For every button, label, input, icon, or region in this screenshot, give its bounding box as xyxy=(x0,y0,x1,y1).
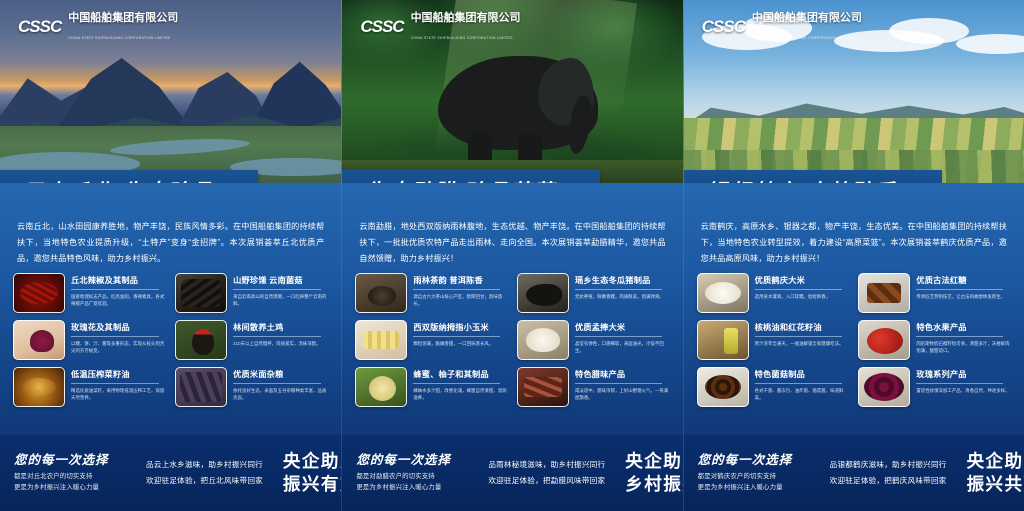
divider xyxy=(755,383,842,384)
product-card[interactable]: 丘北辣椒及其制品 国家地理标志产品，红亮油润，香辣素具，各式辣椒产品广受欢迎。 xyxy=(13,273,166,313)
chili-thumb xyxy=(13,273,65,313)
divider xyxy=(233,336,321,337)
product-desc: 以糖、饼、汁、酱等多重形态，实现从枝头到舌尖的芬芳蜕变。 xyxy=(71,340,166,354)
panel-description: 云南鹤庆，高原水乡、银器之都，物产丰饶，生态优美。在中国船舶集团的持续帮扶下，当… xyxy=(684,213,1024,266)
product-card[interactable]: 优质孟捧大米 晶莹有弹性，口感细软，表面油光，冷饭不回生。 xyxy=(517,320,670,360)
divider xyxy=(916,289,1003,290)
product-grid: 丘北辣椒及其制品 国家地理标志产品，红亮油润，香辣素具，各式辣椒产品广受欢迎。 … xyxy=(0,273,341,407)
product-name: 瑶乡生态冬瓜猪制品 xyxy=(575,276,670,286)
product-name: 特色菌菇制品 xyxy=(755,370,850,380)
product-name: 核桃油和红花籽油 xyxy=(755,323,850,333)
product-name: 优质鹤庆大米 xyxy=(755,276,850,286)
footer-headline-block: 央企助力 振兴有方 xyxy=(283,450,341,496)
product-name: 特色水果产品 xyxy=(916,323,1011,333)
winter-melon-pig-thumb xyxy=(517,273,569,313)
fruit-thumb xyxy=(858,320,910,360)
fungus-thumb xyxy=(697,367,749,407)
footer-invite-block: 品雨林秘境滋味，助乡村振兴同行 欢迎驻足体验，把勐腊风味带回家 xyxy=(488,457,605,489)
footer-slogan-block: 您的每一次选择 都是对勐腊农户的切实支持 更是为乡村振兴注入暖心力量 xyxy=(356,453,468,493)
grain-thumb xyxy=(175,367,227,407)
footer-invite-block: 品云上水乡滋味，助乡村振兴同行 欢迎驻足体验，把丘北风味带回家 xyxy=(146,457,263,489)
product-desc: 各式干菌、酱冻包、油炸菌、菌菇酱，味道鲜美。 xyxy=(755,387,850,401)
product-desc: 源自古六大茶山核心产区，醇厚回甘，韵味悠长。 xyxy=(413,293,508,307)
product-card[interactable]: 特色菌菇制品 各式干菌、酱冻包、油炸菌、菌菇酱，味道鲜美。 xyxy=(697,367,850,407)
divider xyxy=(71,289,159,290)
footer-headline-block: 央企助力 乡村振兴 xyxy=(625,450,682,496)
product-card[interactable]: 优质米面杂粮 依托良好生态，米面及五谷杂粮种类丰富，品质优良。 xyxy=(175,367,328,407)
cssc-logo: CSSC 中国船舶集团有限公司 CHINA STATE SHIPBUILDING… xyxy=(360,8,520,44)
panel-qiubei: CSSC 中国船舶集团有限公司 CHINA STATE SHIPBUILDING… xyxy=(0,0,341,511)
heqing-rice-thumb xyxy=(697,273,749,313)
footer-headline-1: 央企助力 xyxy=(283,450,341,473)
product-desc: 置适性玫瑰深加工产品，清香自然，神述多样。 xyxy=(916,387,1011,394)
product-name: 蜂蜜、柚子和其制品 xyxy=(413,370,508,380)
free-range-chicken-thumb xyxy=(175,320,227,360)
panel-description: 云南勐腊，地处西双版纳雨林腹地，生态优越、物产丰饶。在中国船舶集团的持续帮扶下，… xyxy=(342,213,682,266)
rapeseed-oil-thumb xyxy=(13,367,65,407)
footer-slogan-block: 您的每一次选择 都是对丘北农户的切实支持 更是为乡村振兴注入暖心力量 xyxy=(14,453,126,493)
footer-headline-2: 振兴共赢 xyxy=(967,473,1024,496)
cssc-wordmark-icon: CSSC xyxy=(702,18,745,35)
cured-meat-thumb xyxy=(517,367,569,407)
product-card[interactable]: 蜂蜜、柚子和其制品 蜂柚水多汁甜，改善化涌，蜂蜜自然清甜，温润滋养。 xyxy=(355,367,508,407)
product-desc: 蜂柚水多汁甜，改善化涌，蜂蜜自然清甜，温润滋养。 xyxy=(413,387,508,401)
brand-name-en: CHINA STATE SHIPBUILDING CORPORATION LIM… xyxy=(411,36,513,40)
product-name: 优质米面杂粮 xyxy=(233,370,328,380)
brand-name-en: CHINA STATE SHIPBUILDING CORPORATION LIM… xyxy=(752,36,854,40)
product-card[interactable]: 瑶乡生态冬瓜猪制品 无抗养殖，鲜嫩香糯，肉质鲜美，饱满弹滑。 xyxy=(517,273,670,313)
product-card[interactable]: 低温压榨菜籽油 精选优质油菜籽，采用物理低温压榨工艺，保留天然营养。 xyxy=(13,367,166,407)
product-card[interactable]: 优质鹤庆大米 选用泉水灌溉，入口软糯，粒粒鲜香。 xyxy=(697,273,850,313)
divider xyxy=(233,289,321,290)
footer-invite-line-1: 品雨林秘境滋味，助乡村振兴同行 xyxy=(488,457,605,473)
rose-series-thumb xyxy=(858,367,910,407)
cssc-wordmark-icon: CSSC xyxy=(360,18,403,35)
divider xyxy=(233,383,321,384)
product-card[interactable]: 山野珍馐 云南菌菇 来自云南高山的自然馈赠，一口吃掉整个云南的鲜。 xyxy=(175,273,328,313)
footer-headline-block: 央企助力 振兴共赢 xyxy=(967,450,1024,496)
baby-corn-thumb xyxy=(355,320,407,360)
footer-invite-line-2: 欢迎驻足体验，把鹤庆风味带回家 xyxy=(830,473,947,489)
brand-name-cn: 中国船舶集团有限公司 xyxy=(411,12,521,24)
footer-subline-2: 更是为乡村振兴注入暖心力量 xyxy=(14,483,126,493)
title-ribbon: 银都鹤庆·农韵醇香 xyxy=(684,170,942,183)
product-card[interactable]: 特色水果产品 冈尼斯牧奶石榴籽粒可食，清甜多汁，沃柑鲜肉饱满，酸甜适口。 xyxy=(858,320,1011,360)
mushroom-thumb xyxy=(175,273,227,313)
product-card[interactable]: 核桃油和红花籽油 原汁浓萃全通天，一瓶油解锁全家健康吃法。 xyxy=(697,320,850,360)
cssc-wordmark-icon: CSSC xyxy=(18,18,61,35)
product-grid: 优质鹤庆大米 选用泉水灌溉，入口软糯，粒粒鲜香。 优质古法红糖 传承匠艺熬制技艺… xyxy=(684,273,1024,407)
title-ribbon: 生态勐腊·珍品荟萃 xyxy=(342,170,600,183)
footer-subline-1: 都是对丘北农户的切实支持 xyxy=(14,472,126,482)
cloud xyxy=(889,18,969,44)
footer-invite-line-2: 欢迎驻足体验，把勐腊风味带回家 xyxy=(488,473,605,489)
divider xyxy=(916,383,1003,384)
product-card[interactable]: 玫瑰系列产品 置适性玫瑰深加工产品，清香自然，神述多样。 xyxy=(858,367,1011,407)
divider xyxy=(71,336,159,337)
panel-title: 银都鹤庆·农韵醇香 xyxy=(684,176,897,183)
divider xyxy=(413,289,500,290)
walnut-oil-thumb xyxy=(697,320,749,360)
divider xyxy=(916,336,1003,337)
panel-title: 云上丘北·生态珍品 xyxy=(0,176,213,183)
footer-slogan-block: 您的每一次选择 都是对鹤庆农户的切实支持 更是为乡村振兴注入暖心力量 xyxy=(698,453,810,493)
rose-thumb xyxy=(13,320,65,360)
footer-headline-2: 乡村振兴 xyxy=(625,473,682,496)
product-name: 丘北辣椒及其制品 xyxy=(71,276,166,286)
product-name: 优质孟捧大米 xyxy=(575,323,670,333)
product-card[interactable]: 西双版纳拇指小玉米 颗粒饱满，脆嫩香甜，一口回味悠长风。 xyxy=(355,320,508,360)
product-name: 山野珍馐 云南菌菇 xyxy=(233,276,328,286)
honey-pomelo-thumb xyxy=(355,367,407,407)
product-name: 低温压榨菜籽油 xyxy=(71,370,166,380)
product-name: 特色腊味产品 xyxy=(575,370,670,380)
product-desc: 国家地理标志产品，红亮油润，香辣素具，各式辣椒产品广受欢迎。 xyxy=(71,293,166,307)
product-card[interactable]: 优质古法红糖 传承匠艺熬制技艺，让古法的故醇焕发新生。 xyxy=(858,273,1011,313)
product-name: 西双版纳拇指小玉米 xyxy=(413,323,508,333)
product-card[interactable]: 玫瑰花及其制品 以糖、饼、汁、酱等多重形态，实现从枝头到舌尖的芬芳蜕变。 xyxy=(13,320,166,360)
panel-mengla: CSSC 中国船舶集团有限公司 CHINA STATE SHIPBUILDING… xyxy=(341,0,682,511)
brown-sugar-thumb xyxy=(858,273,910,313)
product-desc: 晶莹有弹性，口感细软，表面油光，冷饭不回生。 xyxy=(575,340,670,354)
hero-image-qiubei: CSSC 中国船舶集团有限公司 CHINA STATE SHIPBUILDING… xyxy=(0,0,341,183)
product-desc: 依托良好生态，米面及五谷杂粮种类丰富，品质优良。 xyxy=(233,387,328,401)
divider xyxy=(575,383,662,384)
panel-title: 生态勐腊·珍品荟萃 xyxy=(342,176,555,183)
footer-subline-2: 更是为乡村振兴注入暖心力量 xyxy=(698,483,810,493)
panel-heqing: CSSC 中国船舶集团有限公司 CHINA STATE SHIPBUILDING… xyxy=(683,0,1024,511)
footer-headline-2: 振兴有方 xyxy=(283,473,341,496)
brand-name-cn: 中国船舶集团有限公司 xyxy=(752,12,862,24)
brand-name-cn: 中国船舶集团有限公司 xyxy=(68,12,178,24)
hero-image-heqing: CSSC 中国船舶集团有限公司 CHINA STATE SHIPBUILDING… xyxy=(684,0,1024,183)
product-card[interactable]: 雨林茶韵 普洱陈香 源自古六大茶山核心产区，醇厚回甘，韵味悠长。 xyxy=(355,273,508,313)
cssc-logo: CSSC 中国船舶集团有限公司 CHINA STATE SHIPBUILDING… xyxy=(702,8,862,44)
divider xyxy=(413,383,500,384)
product-name: 玫瑰花及其制品 xyxy=(71,323,166,333)
product-desc: 颗粒饱满，脆嫩香甜，一口回味悠长风。 xyxy=(413,340,508,347)
footer-subline-2: 更是为乡村振兴注入暖心力量 xyxy=(356,483,468,493)
product-name: 雨林茶韵 普洱陈香 xyxy=(413,276,508,286)
panel-footer: 您的每一次选择 都是对丘北农户的切实支持 更是为乡村振兴注入暖心力量 品云上水乡… xyxy=(0,435,341,511)
product-desc: 传承匠艺熬制技艺，让古法的故醇焕发新生。 xyxy=(916,293,1011,300)
divider xyxy=(575,289,662,290)
footer-subline-1: 都是对鹤庆农户的切实支持 xyxy=(698,472,810,482)
product-desc: 原汁浓萃全通天，一瓶油解锁全家健康吃法。 xyxy=(755,340,850,347)
product-desc: 咸淡适中，腊味浓郁，上好山野烟火气，一蒸满屋飘香。 xyxy=(575,387,670,401)
brand-name-en: CHINA STATE SHIPBUILDING CORPORATION LIM… xyxy=(68,36,170,40)
panel-footer: 您的每一次选择 都是对鹤庆农户的切实支持 更是为乡村振兴注入暖心力量 品银都鹤庆… xyxy=(684,435,1024,511)
product-desc: 无抗养殖，鲜嫩香糯，肉质鲜美，饱满弹滑。 xyxy=(575,293,670,300)
panel-footer: 您的每一次选择 都是对勐腊农户的切实支持 更是为乡村振兴注入暖心力量 品雨林秘境… xyxy=(342,435,682,511)
product-card[interactable]: 林间散养土鸡 210天以上自然慢养，肉质紧实，汤味浓醇。 xyxy=(175,320,328,360)
title-ribbon: 云上丘北·生态珍品 xyxy=(0,170,258,183)
product-desc: 来自云南高山的自然馈赠，一口吃掉整个云南的鲜。 xyxy=(233,293,328,307)
footer-invite-block: 品银都鹤庆滋味，助乡村振兴同行 欢迎驻足体验，把鹤庆风味带回家 xyxy=(830,457,947,489)
cssc-logo: CSSC 中国船舶集团有限公司 CHINA STATE SHIPBUILDING… xyxy=(18,8,178,44)
divider xyxy=(755,289,842,290)
footer-invite-line-2: 欢迎驻足体验，把丘北风味带回家 xyxy=(146,473,263,489)
divider xyxy=(413,336,500,337)
divider xyxy=(575,336,662,337)
footer-headline-1: 央企助力 xyxy=(967,450,1024,473)
footer-invite-line-1: 品云上水乡滋味，助乡村振兴同行 xyxy=(146,457,263,473)
footer-subline-1: 都是对勐腊农户的切实支持 xyxy=(356,472,468,482)
product-name: 林间散养土鸡 xyxy=(233,323,328,333)
footer-headline-1: 央企助力 xyxy=(625,450,682,473)
product-card[interactable]: 特色腊味产品 咸淡适中，腊味浓郁，上好山野烟火气，一蒸满屋飘香。 xyxy=(517,367,670,407)
poster-board: CSSC 中国船舶集团有限公司 CHINA STATE SHIPBUILDING… xyxy=(0,0,1024,511)
puer-tea-thumb xyxy=(355,273,407,313)
mengpeng-rice-thumb xyxy=(517,320,569,360)
product-name: 玫瑰系列产品 xyxy=(916,370,1011,380)
footer-invite-line-1: 品银都鹤庆滋味，助乡村振兴同行 xyxy=(830,457,947,473)
footer-script-line: 您的每一次选择 xyxy=(356,453,468,468)
product-grid: 雨林茶韵 普洱陈香 源自古六大茶山核心产区，醇厚回甘，韵味悠长。 瑶乡生态冬瓜猪… xyxy=(342,273,682,407)
divider xyxy=(755,336,842,337)
product-desc: 冈尼斯牧奶石榴籽粒可食，清甜多汁，沃柑鲜肉饱满，酸甜适口。 xyxy=(916,340,1011,354)
product-desc: 选用泉水灌溉，入口软糯，粒粒鲜香。 xyxy=(755,293,850,300)
product-desc: 精选优质油菜籽，采用物理低温压榨工艺，保留天然营养。 xyxy=(71,387,166,401)
footer-script-line: 您的每一次选择 xyxy=(14,453,126,468)
hero-image-mengla: CSSC 中国船舶集团有限公司 CHINA STATE SHIPBUILDING… xyxy=(342,0,682,183)
panel-description: 云南丘北，山水田园康养胜地，物产丰饶，民族风情多彩。在中国船舶集团的持续帮扶下，… xyxy=(0,213,341,266)
product-name: 优质古法红糖 xyxy=(916,276,1011,286)
product-desc: 210天以上自然慢养，肉质紧实，汤味浓醇。 xyxy=(233,340,328,347)
footer-script-line: 您的每一次选择 xyxy=(698,453,810,468)
divider xyxy=(71,383,159,384)
